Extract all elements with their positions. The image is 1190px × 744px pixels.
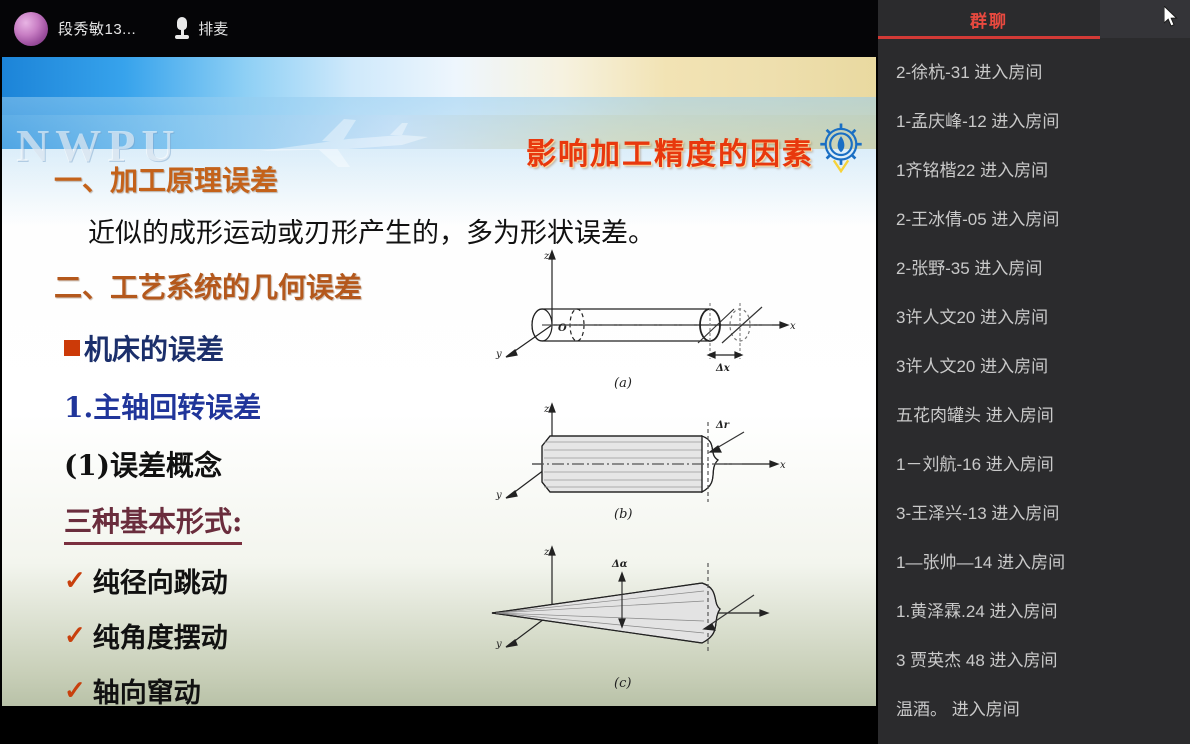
host-name: 段秀敏13... [58,18,136,39]
svg-text:(a): (a) [614,376,632,391]
chat-message: 2-徐杭-31 进入房间 [878,48,1190,97]
mouse-cursor-icon [1164,6,1180,28]
svg-text:(c): (c) [614,676,631,691]
shared-slide: NWPU 影响加工精度的因素 [2,57,876,706]
queue-mic-label: 排麦 [198,18,228,39]
meeting-window: 段秀敏13... 排麦 NWPU 影响加工精度的 [0,0,1190,744]
tab-active-underline [878,36,1100,39]
svg-text:z: z [543,404,550,415]
queue-mic-button[interactable]: 排麦 [174,17,228,41]
bullet-line: ✓ 纯角度摆动 [64,616,472,655]
bullet-text: 轴向窜动 [93,671,201,706]
chat-message: 3许人文20 进入房间 [878,293,1190,342]
chat-message: 1—张帅—14 进入房间 [878,538,1190,587]
spindle-error-figures: z x y O [472,247,872,706]
chat-message: 2-张野-35 进入房间 [878,244,1190,293]
square-bullet-icon [64,340,80,356]
chat-message-list[interactable]: 2-徐杭-31 进入房间 1-孟庆峰-12 进入房间 1齐铭楷22 进入房间 2… [878,40,1190,744]
bullet-line: (1)误差概念 [64,444,472,484]
chat-message: 温酒。 进入房间 [878,685,1190,734]
chat-message: 1－刘航-16 进入房间 [878,440,1190,489]
svg-text:Δx: Δx [715,363,731,374]
tab-group-chat[interactable]: 群聊 [878,0,1100,38]
check-bullet-icon: ✓ [64,676,86,706]
chat-message: 3许人文20 进入房间 [878,342,1190,391]
check-bullet-icon: ✓ [64,621,86,651]
chat-message: 1齐铭楷22 进入房间 [878,146,1190,195]
svg-text:x: x [790,321,796,332]
microphone-icon [174,17,190,41]
chat-message: 3 贾英杰 48 进入房间 [878,636,1190,685]
check-bullet-icon: ✓ [64,566,86,596]
svg-text:z: z [543,547,550,558]
bullet-line: 1.主轴回转误差 [64,386,472,426]
svg-text:y: y [495,639,502,650]
stage-topbar: 段秀敏13... 排麦 [0,0,878,57]
bullet-line: 近似的成形运动或刃形产生的，多为形状误差。 [88,211,472,250]
bullet-text: 纯径向跳动 [93,561,228,600]
svg-text:y: y [495,490,502,501]
svg-text:z: z [543,251,550,262]
chat-message: 1.黄泽霖.24 进入房间 [878,587,1190,636]
page-title: 影响加工精度的因素 [526,129,814,173]
bullet-text: 纯角度摆动 [93,616,228,655]
chat-message: 2-王冰倩-05 进入房间 [878,195,1190,244]
bullet-line: 机床的误差 [64,328,472,368]
slide-title-wrap: 影响加工精度的因素 [526,129,814,173]
svg-text:Δα: Δα [611,559,628,570]
bullet-text: 机床的误差 [84,328,224,368]
chat-message: 3-王泽兴-13 进入房间 [878,489,1190,538]
slide-bullets: 一、加工原理误差 近似的成形运动或刃形产生的，多为形状误差。 二、工艺系统的几何… [2,153,472,706]
chat-panel: 群聊 2-徐杭-31 进入房间 1-孟庆峰-12 进入房间 1齐铭楷22 进入房… [878,0,1190,744]
svg-text:y: y [495,349,502,360]
bullet-line: 三种基本形式: [64,500,242,545]
avatar [14,12,48,46]
video-stage: 段秀敏13... 排麦 NWPU 影响加工精度的 [0,0,878,744]
chat-message: 1-孟庆峰-12 进入房间 [878,97,1190,146]
bullet-line: 一、加工原理误差 [54,159,472,199]
svg-text:(b): (b) [614,507,632,522]
svg-text:Δr: Δr [715,420,730,431]
svg-text:x: x [780,460,786,471]
chat-header: 群聊 [878,0,1190,38]
bullet-line: 二、工艺系统的几何误差 [54,266,472,306]
chat-message: 1-徐海龙-13 进入房间 [878,734,1190,744]
bullet-line: ✓ 纯径向跳动 [64,561,472,600]
chat-message: 五花肉罐头 进入房间 [878,391,1190,440]
school-logo-icon [814,119,868,173]
bullet-line: ✓ 轴向窜动 [64,671,472,706]
